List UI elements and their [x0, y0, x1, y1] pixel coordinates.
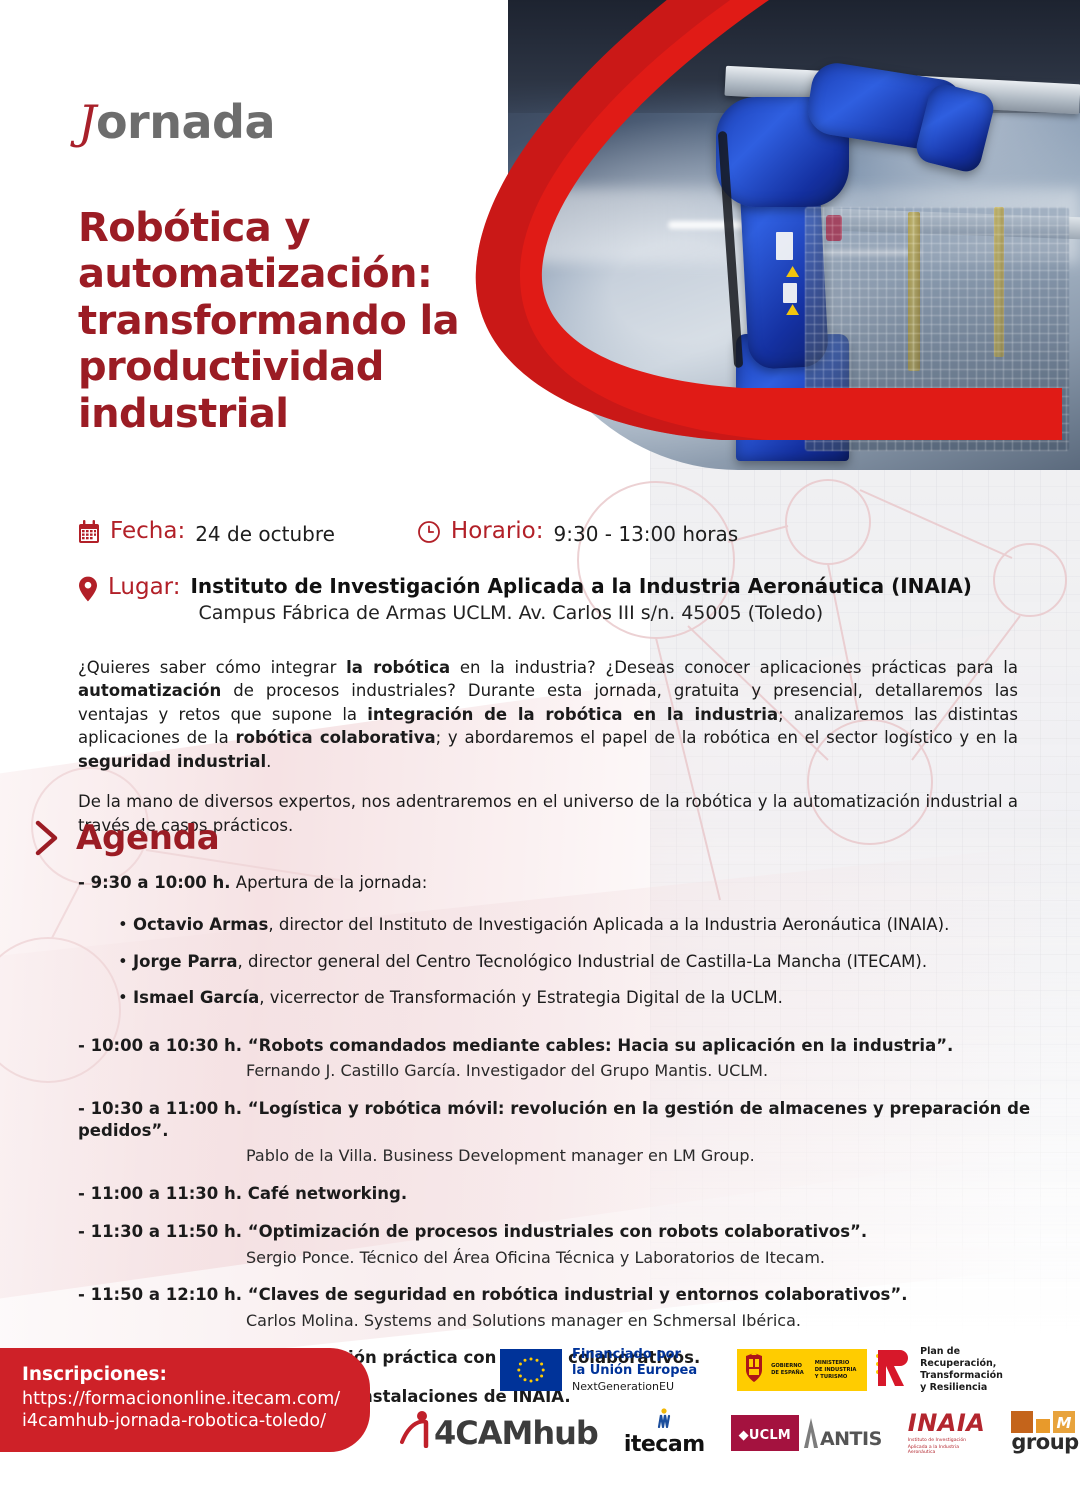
- gantry-rail-lower: [771, 206, 1080, 239]
- i4camhub-text: 4CAMhub: [434, 1414, 598, 1452]
- safety-post: [908, 212, 920, 372]
- agenda-session-title: Café networking.: [242, 1184, 407, 1203]
- uclm-mantis-logo: ◆UCLM ANTIS: [731, 1415, 882, 1451]
- prtr-line1: Plan de: [920, 1346, 1003, 1358]
- list-item: • Octavio Armas, director del Instituto …: [118, 914, 1078, 935]
- place-text-block: Instituto de Investigación Aplicada a la…: [190, 574, 971, 624]
- prtr-mark-icon: [873, 1346, 915, 1394]
- agenda-text: Apertura de la jornada:: [231, 873, 428, 892]
- robot-arm: [657, 38, 989, 461]
- clock-icon: [417, 520, 441, 548]
- prtr-text: Plan de Recuperación, Transformación y R…: [920, 1346, 1003, 1395]
- inaia-logo: INAIA Instituto de Investigación Aplicad…: [908, 1409, 986, 1457]
- kicker-rest: ornada: [96, 95, 275, 149]
- time-value: 9:30 - 13:00 horas: [554, 522, 739, 546]
- svg-text:M: M: [1057, 1414, 1072, 1432]
- coat-of-arms-icon: [742, 1352, 766, 1388]
- agenda-time: - 11:00 a 11:30 h.: [78, 1184, 242, 1203]
- speaker-name: Octavio Armas: [133, 915, 268, 934]
- itecam-mark-icon: [653, 1408, 675, 1432]
- group-text: group: [1011, 1430, 1078, 1454]
- agenda-time: - 11:30 a 11:50 h.: [78, 1222, 242, 1241]
- agenda-title: Agenda: [76, 818, 219, 858]
- hero-image-industrial-robot: [508, 0, 1080, 470]
- time-label: Horario:: [451, 518, 544, 544]
- registration-url-line2[interactable]: i4camhub-jornada-robotica-toledo/: [22, 1410, 370, 1432]
- agenda-time: - 10:00 a 10:30 h.: [78, 1036, 242, 1055]
- agenda-time: - 10:30 a 11:00 h.: [78, 1099, 242, 1118]
- min-line1: MINISTERIO: [815, 1360, 857, 1367]
- speaker-name: Ismael García: [133, 988, 259, 1007]
- factory-background: [508, 0, 1080, 470]
- date-value: 24 de octubre: [195, 522, 335, 546]
- prtr-line3: Transformación: [920, 1370, 1003, 1382]
- chevron-right-icon: [34, 820, 60, 856]
- agenda-item-opening: - 9:30 a 10:00 h. Apertura de la jornada…: [78, 872, 1078, 894]
- place-address: Campus Fábrica de Armas UCLM. Av. Carlos…: [198, 602, 971, 624]
- meta-row-date-time: Fecha: 24 de octubre Horario: 9:30 - 13:…: [78, 518, 978, 548]
- i4camhub-logo: 4CAMhub: [400, 1410, 598, 1456]
- agenda-session-title: “Optimización de procesos industriales c…: [242, 1222, 867, 1241]
- itecam-text: itecam: [624, 1432, 705, 1457]
- agenda-time: - 9:30 a 10:00 h.: [78, 873, 231, 892]
- registration-title: Inscripciones:: [22, 1364, 370, 1385]
- agenda-session-title: “Claves de seguridad en robótica industr…: [242, 1285, 907, 1304]
- list-item: • Jorge Parra, director general del Cent…: [118, 951, 1078, 972]
- speaker-name: Jorge Parra: [133, 952, 238, 971]
- mantis-mark: ANTIS: [802, 1416, 882, 1450]
- page-title: Robótica y automatización: transformando…: [78, 205, 508, 437]
- registration-url-line1[interactable]: https://formaciononline.itecam.com/: [22, 1388, 370, 1410]
- agenda-header: Agenda: [34, 818, 219, 858]
- location-pin-icon: [78, 576, 98, 606]
- agenda-speaker: Fernando J. Castillo García. Investigado…: [246, 1061, 1078, 1082]
- agenda-speaker: Sergio Ponce. Técnico del Área Oficina T…: [246, 1248, 1078, 1269]
- sponsor-logos: 4CAMhub itecam ◆UCLM ANTIS INAIA Insti: [400, 1408, 1080, 1457]
- registration-banner[interactable]: Inscripciones: https://formaciononline.i…: [0, 1348, 370, 1452]
- inaia-sub2: Aplicada a la Industria Aeronáutica: [908, 1445, 986, 1457]
- agenda-time: - 11:50 a 12:10 h.: [78, 1285, 242, 1304]
- agenda-speaker: Carlos Molina. Systems and Solutions man…: [246, 1311, 1078, 1332]
- meta-row-place: Lugar: Instituto de Investigación Aplica…: [78, 574, 978, 624]
- list-item: • Ismael García, vicerrector de Transfor…: [118, 987, 1078, 1008]
- eu-funding-text: Financiado por la Unión Europea NextGene…: [572, 1347, 697, 1393]
- calendar-icon: [78, 520, 100, 548]
- description-paragraph-1: ¿Quieres saber cómo integrar la robótica…: [78, 656, 1018, 773]
- agenda-speaker: Pablo de la Villa. Business Development …: [246, 1146, 1078, 1167]
- eu-line3: NextGenerationEU: [572, 1380, 697, 1393]
- uclm-badge: ◆UCLM: [731, 1415, 799, 1451]
- min-line2: DE INDUSTRIA: [815, 1367, 857, 1374]
- event-poster: Jornada Robótica y automatización: trans…: [0, 0, 1080, 1499]
- eu-funding-logo: Financiado por la Unión Europea NextGene…: [500, 1347, 697, 1393]
- kicker-initial: J: [78, 95, 96, 149]
- gobierno-ministerio-logo: GOBIERNO DE ESPAÑA MINISTERIO DE INDUSTR…: [737, 1346, 1003, 1395]
- safety-post: [994, 207, 1004, 357]
- inaia-text: INAIA: [908, 1409, 986, 1437]
- mantis-text: ANTIS: [820, 1428, 882, 1450]
- speaker-role: , director general del Centro Tecnológic…: [238, 952, 928, 971]
- meta-time: Horario: 9:30 - 13:00 horas: [417, 518, 738, 548]
- agenda-item: - 11:50 a 12:10 h. “Claves de seguridad …: [78, 1284, 1078, 1306]
- emergency-stop: [826, 215, 842, 241]
- registration-content: Inscripciones: https://formaciononline.i…: [0, 1348, 370, 1433]
- meta-date: Fecha: 24 de octubre: [78, 518, 335, 548]
- event-meta: Fecha: 24 de octubre Horario: 9:30 - 13:…: [78, 518, 978, 624]
- agenda-speaker-bullets: • Octavio Armas, director del Instituto …: [118, 914, 1078, 1008]
- itecam-logo: itecam: [624, 1408, 705, 1457]
- uclm-text: UCLM: [749, 1428, 791, 1443]
- gobierno-box: GOBIERNO DE ESPAÑA MINISTERIO DE INDUSTR…: [737, 1349, 867, 1391]
- funding-logos: Financiado por la Unión Europea NextGene…: [500, 1346, 1003, 1395]
- mantis-icon: [802, 1416, 820, 1450]
- robot-sticker: [783, 283, 797, 303]
- agenda-item: - 11:30 a 11:50 h. “Optimización de proc…: [78, 1221, 1078, 1243]
- ministerio-text: MINISTERIO DE INDUSTRIA Y TURISMO: [815, 1360, 857, 1381]
- speaker-role: , director del Instituto de Investigació…: [268, 915, 949, 934]
- agenda-item: - 10:00 a 10:30 h. “Robots comandados me…: [78, 1035, 1078, 1057]
- date-label: Fecha:: [110, 518, 185, 544]
- agenda-item: - 11:00 a 11:30 h. Café networking.: [78, 1183, 1078, 1205]
- prtr-line4: y Resiliencia: [920, 1382, 1003, 1394]
- safety-post: [805, 193, 814, 334]
- eu-line1: Financiado por: [572, 1347, 697, 1363]
- place-value: Instituto de Investigación Aplicada a la…: [190, 574, 971, 598]
- place-label: Lugar:: [108, 574, 180, 600]
- agenda-list: - 9:30 a 10:00 h. Apertura de la jornada…: [78, 872, 1078, 1424]
- eu-flag-icon: [500, 1349, 562, 1391]
- speaker-role: , vicerrector de Transformación y Estrat…: [259, 988, 783, 1007]
- eu-line2: la Unión Europea: [572, 1363, 697, 1379]
- prtr-line2: Recuperación,: [920, 1358, 1003, 1370]
- i4camhub-mark-icon: [400, 1410, 434, 1456]
- gob-line2: DE ESPAÑA: [771, 1370, 804, 1377]
- gobierno-text: GOBIERNO DE ESPAÑA: [771, 1363, 804, 1377]
- inaia-sub1: Instituto de Investigación: [908, 1438, 966, 1444]
- lm-group-logo: M group: [1011, 1411, 1078, 1454]
- robot-sticker: [776, 232, 793, 260]
- agenda-session-title: “Robots comandados mediante cables: Haci…: [242, 1036, 953, 1055]
- min-line3: Y TURISMO: [815, 1374, 857, 1381]
- page-kicker: Jornada: [78, 95, 275, 149]
- prtr-logo: Plan de Recuperación, Transformación y R…: [873, 1346, 1003, 1395]
- agenda-item: - 10:30 a 11:00 h. “Logística y robótica…: [78, 1098, 1078, 1143]
